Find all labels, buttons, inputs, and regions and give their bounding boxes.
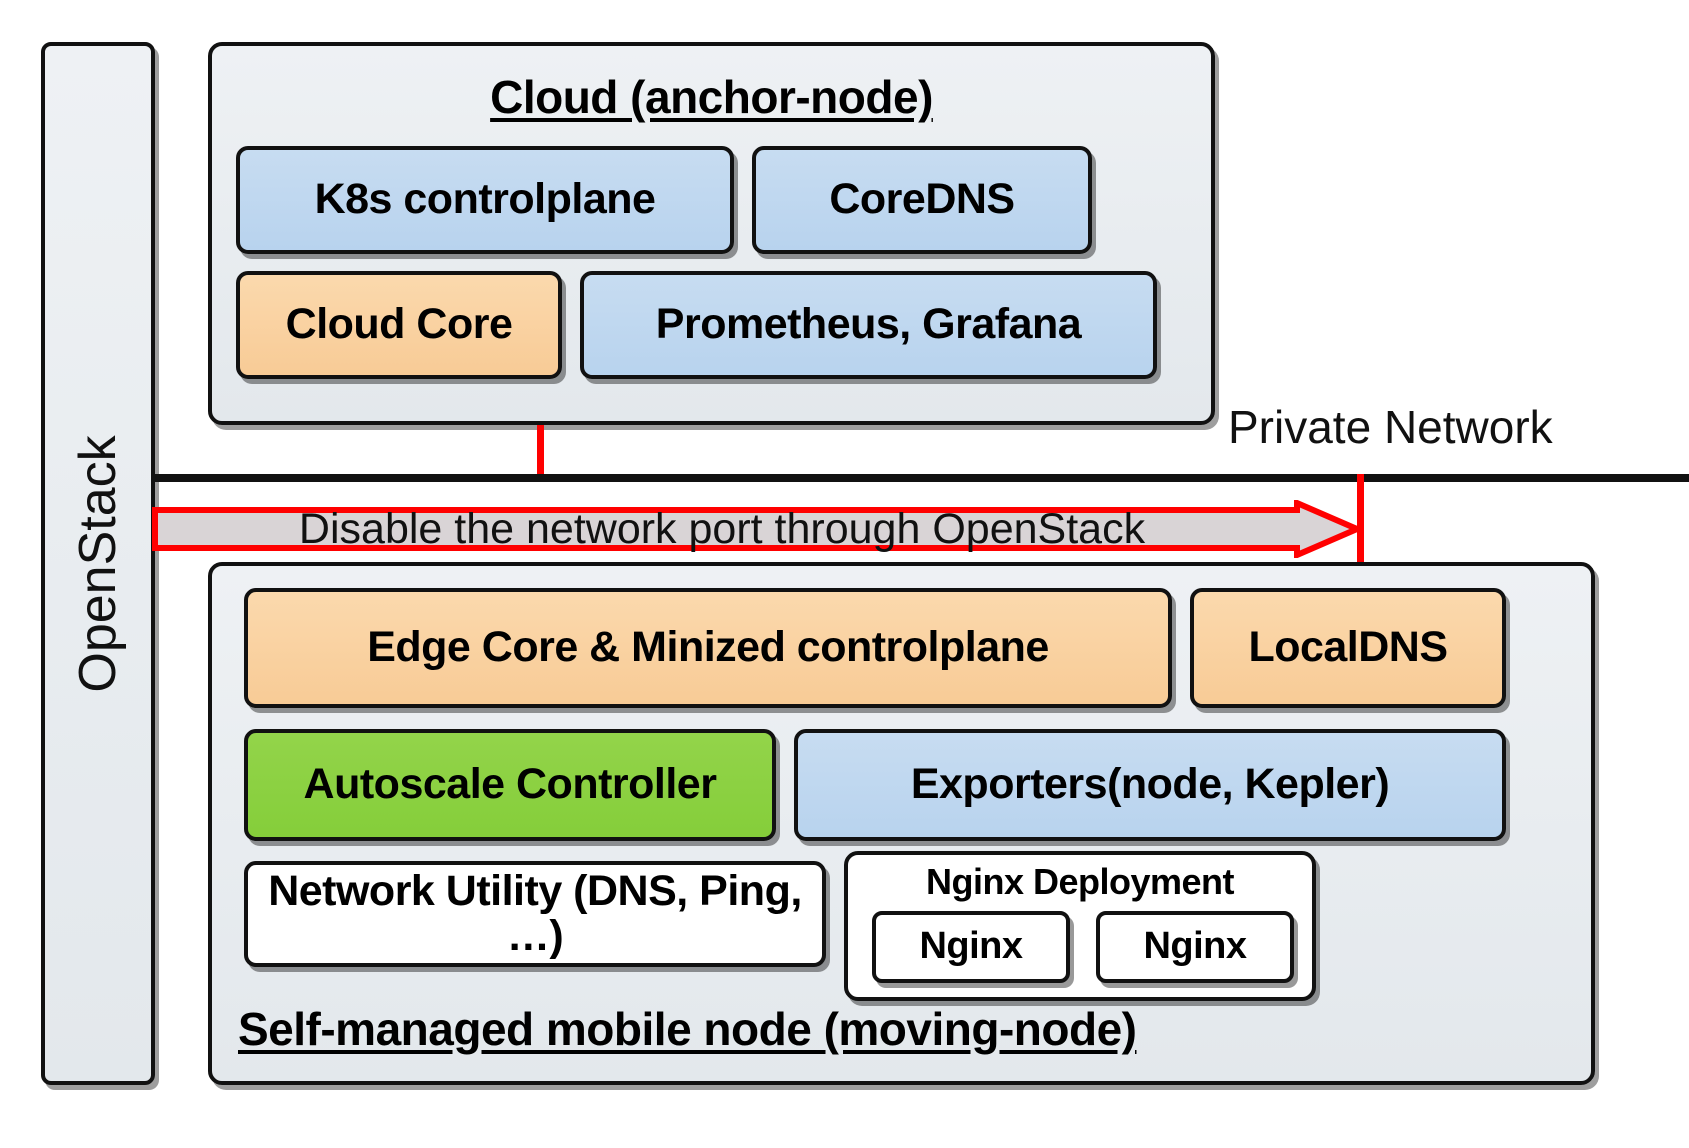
component-edge-core-minized-controlplane: Edge Core & Minized controlplane [244, 588, 1172, 708]
component-localdns: LocalDNS [1190, 588, 1506, 708]
component-network-utility: Network Utility (DNS, Ping, …) [244, 861, 826, 967]
nginx-deployment-container: Nginx Deployment Nginx Nginx [844, 851, 1316, 1001]
nginx-deployment-title: Nginx Deployment [848, 863, 1312, 901]
openstack-container: OpenStack [41, 42, 155, 1085]
private-network-label: Private Network [1228, 400, 1553, 454]
cloud-core-network-connector [537, 425, 544, 477]
architecture-diagram: OpenStack Cloud (anchor-node) K8s contro… [0, 0, 1689, 1148]
nginx-pod: Nginx [1096, 911, 1294, 983]
openstack-label: OpenStack [68, 435, 128, 692]
component-coredns: CoreDNS [752, 146, 1092, 254]
moving-node-title: Self-managed mobile node (moving-node) [238, 1002, 1136, 1056]
component-autoscale-controller: Autoscale Controller [244, 729, 776, 841]
component-k8s-controlplane: K8s controlplane [236, 146, 734, 254]
disable-network-port-arrow: Disable the network port through OpenSta… [152, 500, 1362, 558]
moving-node-container: Edge Core & Minized controlplane LocalDN… [208, 562, 1595, 1085]
component-cloud-core: Cloud Core [236, 271, 562, 379]
component-exporters: Exporters(node, Kepler) [794, 729, 1506, 841]
disable-network-port-label: Disable the network port through OpenSta… [152, 500, 1292, 558]
component-prometheus-grafana: Prometheus, Grafana [580, 271, 1157, 379]
cloud-anchor-node-container: Cloud (anchor-node) K8s controlplane Cor… [208, 42, 1215, 425]
private-network-line [155, 474, 1689, 482]
nginx-pod: Nginx [872, 911, 1070, 983]
cloud-title: Cloud (anchor-node) [212, 70, 1211, 124]
